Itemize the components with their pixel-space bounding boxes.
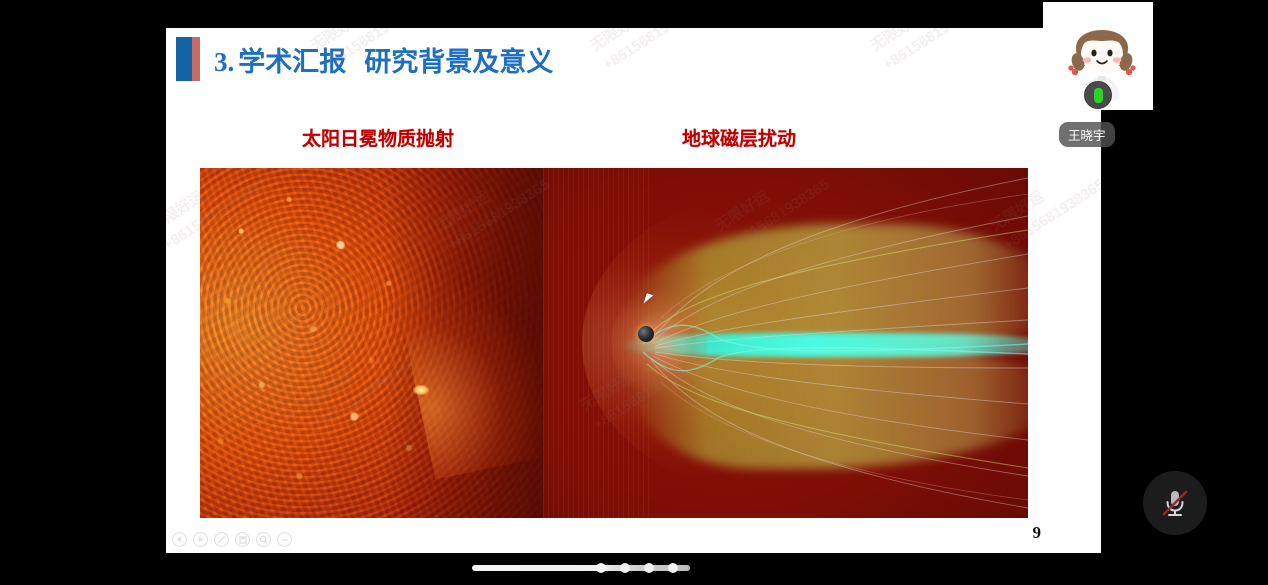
scrubber-dot[interactable] — [596, 563, 606, 573]
previous-slide-button[interactable] — [172, 532, 187, 547]
zoom-button[interactable] — [256, 532, 271, 547]
scrubber-dot[interactable] — [668, 563, 678, 573]
annotate-pen-button[interactable] — [214, 532, 229, 547]
presentation-slide: 3.学术汇报研究背景及意义 太阳日冕物质抛射 地球磁层扰动 — [166, 28, 1101, 553]
watermark: 无限好运+8615681938365 — [586, 28, 710, 77]
watermark: 无限好运+8615681938365 — [866, 28, 990, 77]
slide-figure — [200, 168, 1028, 518]
slide-title-main: 学术汇报 — [238, 47, 346, 77]
accent-bar-red — [192, 37, 200, 81]
mic-active-green-icon — [1094, 88, 1103, 103]
caption-left: 太阳日冕物质抛射 — [302, 124, 454, 151]
slide-title: 3.学术汇报研究背景及意义 — [176, 36, 553, 82]
mic-status-indicator — [1084, 81, 1112, 109]
participant-name: 王晓宇 — [1059, 122, 1115, 147]
microphone-muted-icon — [1158, 486, 1192, 520]
sun-bright-spot — [413, 385, 429, 395]
caption-right: 地球磁层扰动 — [682, 124, 796, 151]
earth-sphere — [638, 326, 654, 342]
participant-tile[interactable]: 王晓宇 — [1043, 2, 1153, 147]
title-accent-bar — [176, 37, 200, 81]
next-slide-button[interactable] — [193, 532, 208, 547]
slide-title-text: 3.学术汇报研究背景及意义 — [214, 40, 553, 79]
scrubber-dot[interactable] — [620, 563, 630, 573]
save-copy-button[interactable] — [235, 532, 250, 547]
app-root: 3.学术汇报研究背景及意义 太阳日冕物质抛射 地球磁层扰动 — [0, 0, 1268, 585]
magnetic-field-lines — [543, 168, 1028, 518]
bottom-progress-scrubber[interactable] — [472, 565, 690, 571]
slide-mini-toolbar[interactable] — [172, 532, 292, 547]
accent-bar-blue — [176, 37, 192, 81]
solar-coronal-mass-ejection-image — [200, 168, 543, 518]
scrubber-dot[interactable] — [644, 563, 654, 573]
slide-title-sub: 研究背景及意义 — [364, 47, 553, 77]
earth-magnetosphere-simulation-image — [543, 168, 1028, 518]
mute-toggle-button[interactable] — [1143, 471, 1207, 535]
slide-title-number: 3. — [214, 47, 234, 77]
slide-page-number: 9 — [1033, 523, 1042, 543]
minimize-button[interactable] — [277, 532, 292, 547]
